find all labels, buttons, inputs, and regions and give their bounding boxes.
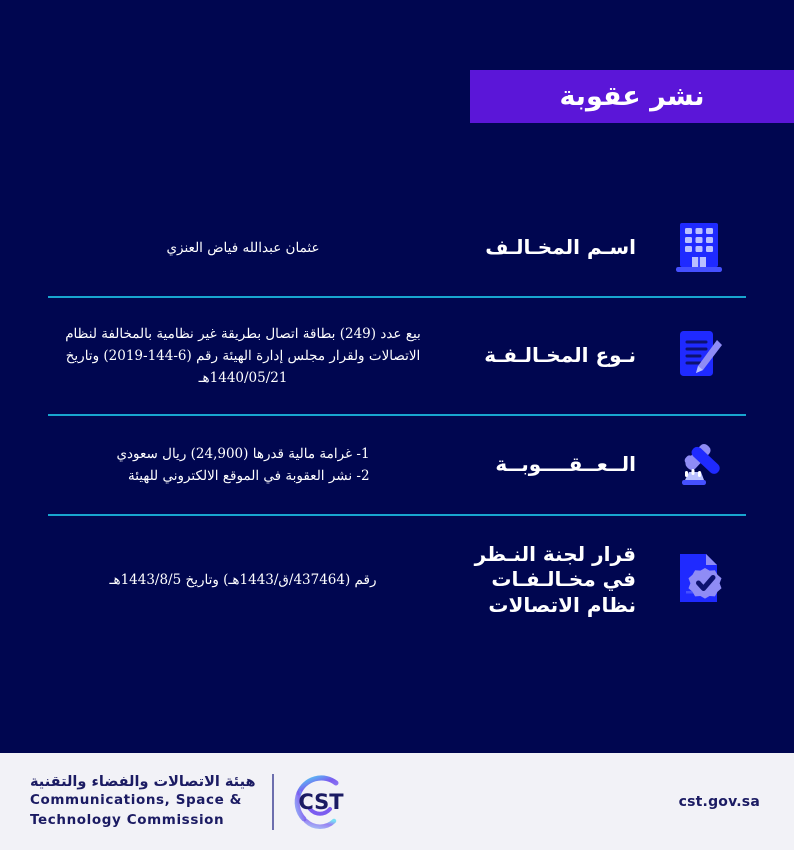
violator-name-value: عثمان عبدالله فياض العنزي [166,237,319,259]
row-label-cell: الــعــقــــوبــة [449,452,644,478]
row-label-cell: قرار لجنة النـظر في مخـالـفـات نظام الات… [449,542,644,619]
footer-branding: CST هيئة الاتصالات والفضاء والتقنية Comm… [30,771,352,833]
committee-label-line-2: في مخـالـفـات [475,567,636,593]
page-title-banner: نشر عقوبة [470,70,794,123]
penalty-value: 1- غرامة مالية قدرها (24,900) ريال سعودي… [116,443,369,488]
committee-label-line-1: قرار لجنة النـظر [475,542,636,568]
verified-document-icon-cell [644,551,754,609]
committee-decision-value: رقم (437464/ق/1443هـ) وتاريخ 1443/8/5هـ [109,569,376,591]
row-label-committee-decision: قرار لجنة النـظر في مخـالـفـات نظام الات… [475,542,636,619]
violation-type-line-3: 1440/05/21هـ [65,367,421,389]
row-violator-name: اسـم المخـالـف عثمان عبدالله فياض العنزي [0,200,794,296]
building-icon-cell [644,221,754,275]
gavel-icon-cell [644,438,754,492]
row-committee-decision: قرار لجنة النـظر في مخـالـفـات نظام الات… [0,516,794,644]
committee-label-line-3: نظام الاتصالات [475,593,636,619]
penalty-publication-card: نشر عقوبة [0,0,794,850]
cst-logo-text: CST [298,790,344,814]
cst-logo-icon: CST [290,771,352,833]
footer: CST هيئة الاتصالات والفضاء والتقنية Comm… [0,753,794,850]
row-value-cell: رقم (437464/ق/1443هـ) وتاريخ 1443/8/5هـ [40,569,446,591]
brand-name-english-line1: Communications, Space & [30,791,256,809]
row-label-cell: نـوع المخـالـفـة [449,343,644,369]
brand-name-english-line2: Technology Commission [30,811,256,829]
verified-document-icon [672,551,726,609]
gavel-icon [672,438,726,492]
footer-website-url[interactable]: cst.gov.sa [679,794,760,810]
row-value-cell: عثمان عبدالله فياض العنزي [40,237,446,259]
building-icon [674,221,724,275]
row-label-cell: اسـم المخـالـف [449,235,644,261]
row-label-penalty: الــعــقــــوبــة [495,452,636,478]
row-value-cell: 1- غرامة مالية قدرها (24,900) ريال سعودي… [40,443,446,488]
document-pen-icon-cell [644,328,754,384]
penalty-line-1: 1- غرامة مالية قدرها (24,900) ريال سعودي [116,443,369,465]
row-label-violator-name: اسـم المخـالـف [485,235,636,261]
violation-type-line-2: الاتصالات ولقرار مجلس إدارة الهيئة رقم (… [65,345,421,367]
brand-name-arabic: هيئة الاتصالات والفضاء والتقنية [30,774,256,790]
detail-rows: اسـم المخـالـف عثمان عبدالله فياض العنزي [0,200,794,644]
brand-text-block: هيئة الاتصالات والفضاء والتقنية Communic… [30,774,256,828]
violation-type-value: بيع عدد (249) بطاقة اتصال بطريقة غير نظا… [65,323,421,390]
document-pen-icon [673,328,725,384]
row-value-cell: بيع عدد (249) بطاقة اتصال بطريقة غير نظا… [40,323,446,390]
row-penalty: الــعــقــــوبــة 1- غرامة مالية قدرها (… [0,416,794,514]
violation-type-line-1: بيع عدد (249) بطاقة اتصال بطريقة غير نظا… [65,323,421,345]
logo-divider [272,774,274,830]
page-title: نشر عقوبة [559,83,704,110]
penalty-line-2: 2- نشر العقوبة في الموقع الالكتروني للهي… [116,465,369,487]
row-violation-type: نـوع المخـالـفـة بيع عدد (249) بطاقة اتص… [0,298,794,414]
row-label-violation-type: نـوع المخـالـفـة [484,343,636,369]
